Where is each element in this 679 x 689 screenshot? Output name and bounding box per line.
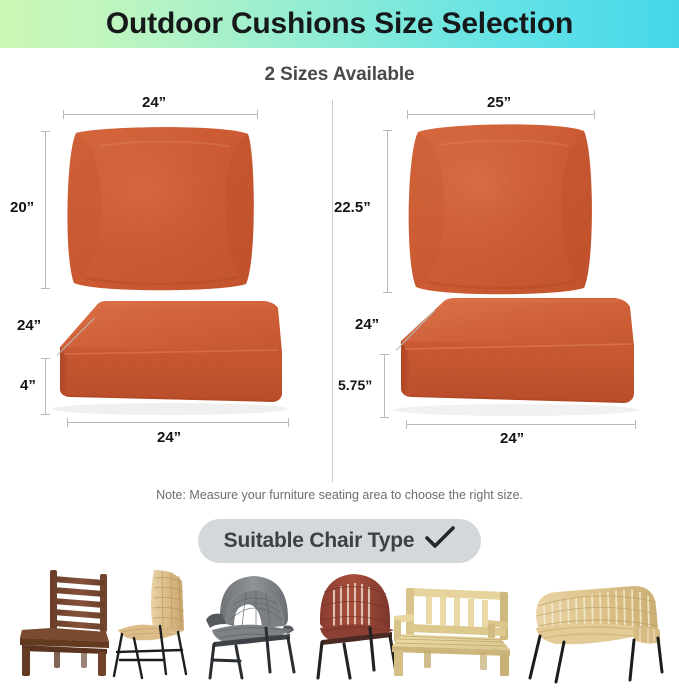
seat-cushion-image-1: [38, 297, 303, 422]
seat-width-label-1: 24”: [157, 429, 181, 446]
pillow-height-rule-2: [387, 130, 388, 293]
seat-thickness-label-1: 4”: [20, 377, 36, 394]
seat-width-rule-1: [67, 422, 289, 423]
size-option-1: 24” 20”: [0, 92, 332, 482]
pillow-height-label-2: 22.5”: [334, 199, 371, 216]
back-pillow-image-2: [398, 118, 603, 298]
chair-rattan-side-chair: [104, 564, 200, 687]
seat-thickness-rule-2: [384, 354, 385, 418]
chair-gray-rope-armchair: [196, 568, 304, 685]
seat-cushion-image-2: [376, 294, 651, 424]
pillow-width-label-1: 24”: [142, 94, 166, 111]
seat-thickness-rule-1: [45, 358, 46, 415]
seat-thickness-label-2: 5.75”: [338, 377, 372, 393]
chair-wooden-slat-armless-chair: [8, 566, 112, 683]
pillow-width-label-2: 25”: [487, 94, 511, 111]
chair-type-row: [0, 569, 679, 689]
pillow-width-rule-2: [407, 114, 595, 115]
size-panels: 24” 20”: [0, 92, 679, 492]
suitable-chair-banner-row: Suitable Chair Type: [0, 519, 679, 563]
chair-natural-wood-bench: [388, 570, 518, 685]
seat-width-rule-2: [406, 424, 636, 425]
suitable-chair-banner: Suitable Chair Type: [198, 519, 482, 563]
chair-rattan-loveseat-bench: [522, 572, 666, 689]
header-band: Outdoor Cushions Size Selection: [0, 0, 679, 48]
pillow-height-rule-1: [45, 131, 46, 289]
page-title: Outdoor Cushions Size Selection: [106, 7, 573, 41]
back-pillow-image-1: [58, 120, 263, 295]
subtitle: 2 Sizes Available: [0, 64, 679, 86]
seat-depth-label-1: 24”: [17, 317, 41, 334]
check-icon: [425, 526, 455, 555]
size-option-2: 25” 22.5”: [333, 92, 665, 482]
seat-depth-label-2: 24”: [355, 316, 379, 333]
pillow-height-label-1: 20”: [10, 199, 34, 216]
pillow-width-rule-1: [63, 114, 258, 115]
suitable-chair-label: Suitable Chair Type: [224, 529, 415, 553]
seat-width-label-2: 24”: [500, 430, 524, 447]
